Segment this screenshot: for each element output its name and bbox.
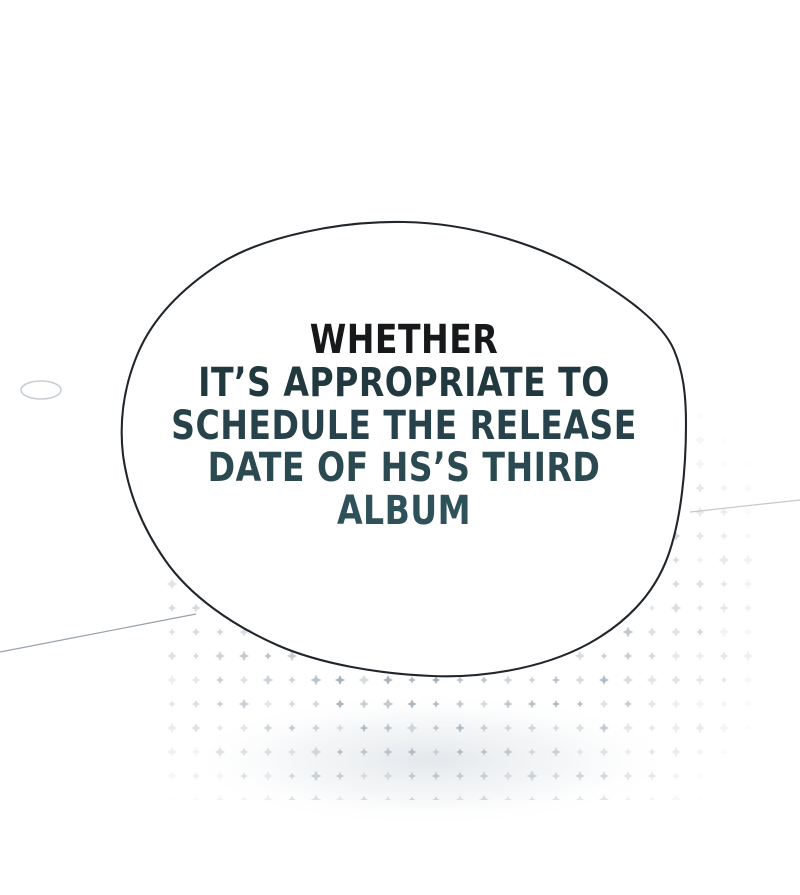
speech-line-2: IT’S APPROPRIATE TO — [154, 363, 654, 404]
speech-line-1: WHETHER — [154, 320, 654, 361]
speech-text-layer: WHETHER IT’S APPROPRIATE TO SCHEDULE THE… — [0, 0, 800, 895]
speech-text: WHETHER IT’S APPROPRIATE TO SCHEDULE THE… — [132, 320, 676, 534]
speech-line-3: SCHEDULE THE RELEASE — [154, 406, 654, 447]
speech-line-4: DATE OF HS’S THIRD — [154, 448, 654, 489]
speech-line-5: ALBUM — [154, 491, 654, 532]
comic-panel: WHETHER IT’S APPROPRIATE TO SCHEDULE THE… — [0, 0, 800, 895]
